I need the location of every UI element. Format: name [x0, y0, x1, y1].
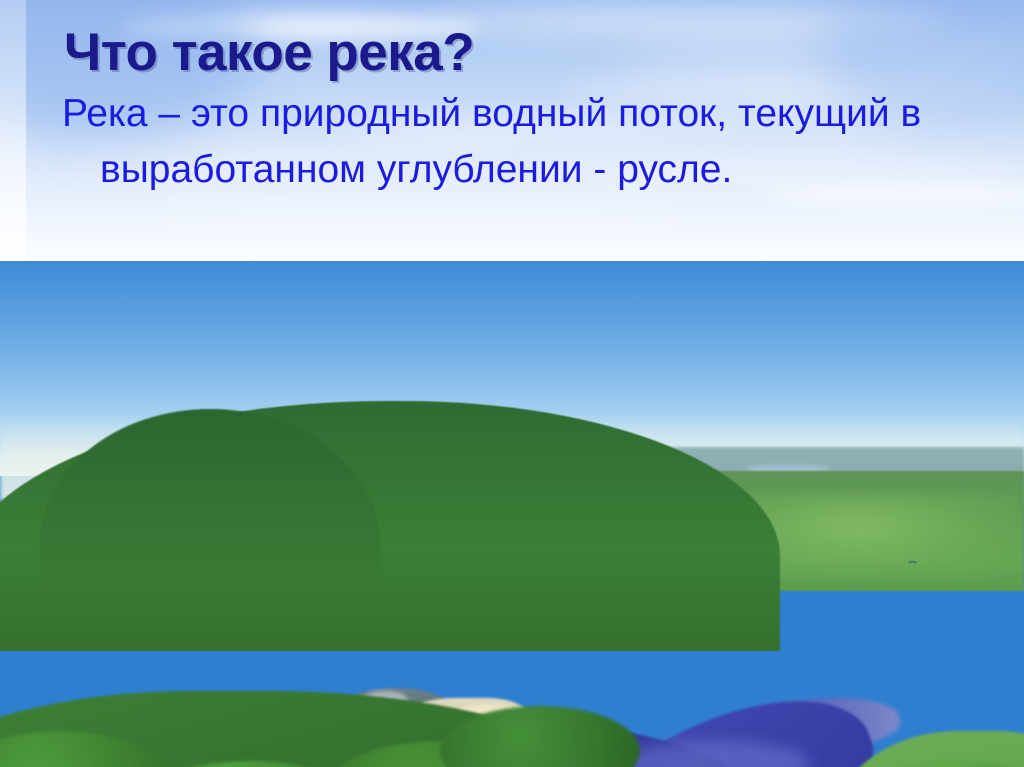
header-text-block: Что такое река? Река – это природный вод… [0, 0, 1024, 261]
river-landscape-photo [0, 261, 1024, 767]
body-line-3: русле. [617, 148, 732, 191]
slide-body-text: Река – это природный водный поток, текущ… [62, 86, 1000, 198]
header-sky-band: Что такое река? Река – это природный вод… [0, 0, 1024, 261]
page-title: Что такое река? [64, 24, 474, 82]
bird-icon [908, 559, 917, 564]
body-line-1: Река – это природный водный поток, [62, 92, 727, 135]
slide: Что такое река? Река – это природный вод… [0, 0, 1024, 767]
